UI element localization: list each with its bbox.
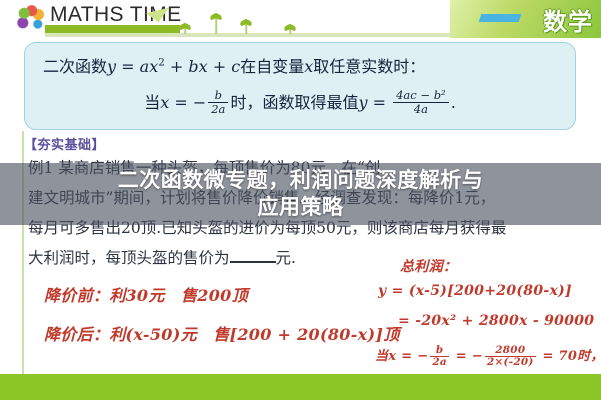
fraction-numerator-2: 4ac − b² xyxy=(393,89,449,103)
formula-plus-1: + xyxy=(165,57,189,76)
formula-coef-c: c xyxy=(231,57,240,76)
vertex-fraction-b-2a: b2a xyxy=(430,345,449,368)
formula-equals-3: = xyxy=(368,93,392,112)
fraction-denominator-2: 2×(-20) xyxy=(485,357,536,368)
fraction-denominator: 2a xyxy=(208,103,228,116)
vertex-suffix: = 70时，利润最大 xyxy=(538,349,601,364)
formula-line-1: 二次函数y = ax2 + bx + c在自变量x取任意实数时： xyxy=(43,53,425,77)
handwritten-note: 降价后：利(x-50)元 售[200 + 20(80-x)]顶 xyxy=(44,321,400,345)
formula-exponent: 2 xyxy=(158,57,165,69)
formula-var-x: x xyxy=(149,57,158,76)
page-header: MATHS TIME 数学 xyxy=(0,0,601,38)
fraction-numerator: b xyxy=(208,89,228,103)
footer-green-bar xyxy=(0,374,601,400)
formula-fraction-discriminant: 4ac − b²4a xyxy=(393,89,449,116)
answer-blank xyxy=(230,261,276,263)
section-heading: 【夯实基础】 xyxy=(24,134,105,153)
formula-plus-2: + xyxy=(208,57,232,76)
handwritten-label-total-profit: 总利润： xyxy=(400,256,457,276)
fraction-denominator-2: 4a xyxy=(393,103,449,116)
formula-var-y-2: y xyxy=(358,93,367,112)
problem-line: 大利润时，每顶头盔的售价为元. xyxy=(28,251,296,267)
problem-blank-unit: 元. xyxy=(276,249,296,267)
blue-dash-icon xyxy=(479,14,522,22)
formula-coef-a: a xyxy=(140,57,150,76)
overlay-title-line-2: 应用策略 xyxy=(258,194,344,221)
formula-coef-b: b xyxy=(188,57,198,76)
formula-line-2: 当x = −b2a时，函数取得最值y = 4ac − b²4a. xyxy=(25,89,575,117)
vertex-fraction-numbers: 28002×(-20) xyxy=(485,345,536,368)
formula-text-prefix: 二次函数 xyxy=(43,57,107,76)
formula-text-tail: 取任意实数时： xyxy=(313,57,425,76)
formula-mid-text: 时，函数取得最值 xyxy=(230,93,358,112)
overlay-title: 二次函数微专题，利润问题深度解析与 应用策略 xyxy=(0,164,601,224)
formula-fraction-b-over-2a: b2a xyxy=(208,89,228,116)
formula-var-y: y xyxy=(107,57,116,76)
formula-equals-2: = − xyxy=(169,93,206,112)
problem-line-text: 大利润时，每顶头盔的售价为 xyxy=(28,249,230,267)
formula-var-x-4: x xyxy=(160,93,169,112)
formula-period: . xyxy=(451,93,456,112)
subject-badge-label: 数学 xyxy=(543,2,593,37)
subject-badge: 数学 xyxy=(450,0,601,38)
handwritten-note: 降价前：利30元 售200顶 xyxy=(44,282,248,306)
formula-var-x-2: x xyxy=(199,57,208,76)
handwritten-equation: = -20x² + 2800x - 90000 xyxy=(398,313,594,329)
overlay-title-line-1: 二次函数微专题，利润问题深度解析与 xyxy=(118,167,484,194)
formula-text-suffix: 在自变量 xyxy=(240,57,304,76)
vertex-equals: = − xyxy=(451,349,483,364)
handwritten-equation: y = (x-5)[200+20(80-x)] xyxy=(378,283,572,299)
fraction-denominator: 2a xyxy=(430,357,449,368)
handwritten-vertex-calculation: 当x = −b2a = −28002×(-20) = 70时，利润最大 xyxy=(375,345,601,368)
formula-var-x-3: x xyxy=(304,57,313,76)
formula-when-label: 当 xyxy=(144,93,160,112)
formula-card: 二次函数y = ax2 + bx + c在自变量x取任意实数时： 当x = −b… xyxy=(24,42,576,130)
vertex-prefix: 当x = − xyxy=(375,349,428,364)
screenshot-root: MATHS TIME 数学 二次函数y = ax2 + bx + c在自变量x取… xyxy=(0,0,601,400)
students-circle-logo-icon xyxy=(13,2,49,36)
formula-equals: = xyxy=(116,57,140,76)
